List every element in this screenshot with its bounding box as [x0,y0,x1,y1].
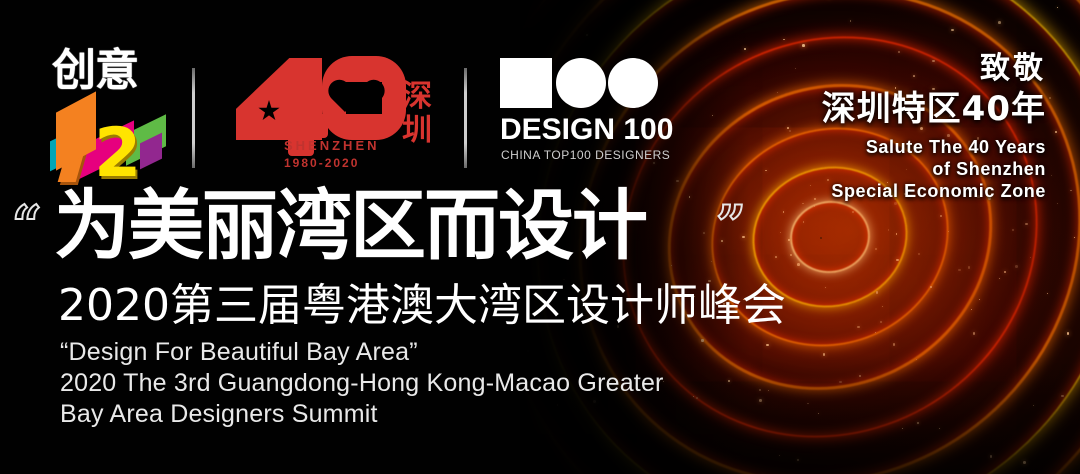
shenzhen-years: 1980-2020 [284,156,359,170]
shenzhen-cn-label: 深圳 [402,80,438,148]
en-line-2: 2020 The 3rd Guangdong-Hong Kong-Macao G… [60,368,780,399]
en-line-3: Bay Area Designers Summit [60,399,780,430]
heart-icon [346,82,382,114]
circle-shape-icon-1 [556,58,606,108]
shenzhen-label: SHENZHEN [284,138,380,153]
headline-row: “ 为美丽湾区而设计 ” [0,186,800,272]
quote-open-icon: “ [12,200,42,252]
chuangyi-12-logo: 2 创意 [44,48,174,170]
page-title: 为美丽湾区而设计 [54,186,646,266]
poster-banner: 2 创意 SHENZHEN 1980-2020 深圳 DESIGN 1 [0,0,1080,474]
en-line-1: “Design For Beautiful Bay Area” [60,337,780,368]
salute-en-line-3: Special Economic Zone [726,180,1046,202]
design-100-title: DESIGN 100 [500,114,673,146]
circle-shape-icon-2 [608,58,658,108]
square-shape-icon [500,58,552,108]
design-100-logo: DESIGN 100 CHINA TOP100 DESIGNERS [500,58,680,166]
chuangyi-12-color-blocks: 2 [44,88,174,170]
salute-en-line-1: Salute The 40 Years [726,136,1046,158]
chuangyi-logo-text: 创意 [52,48,138,94]
salute-cn-small: 致敬 [726,52,1046,86]
quote-close-icon: ” [716,200,746,252]
four-crossbar [236,114,328,138]
logo-divider-2 [464,68,467,168]
event-subtitle-cn: 2020第三届粤港澳大湾区设计师峰会 [58,282,786,330]
event-subtitle-en: “Design For Beautiful Bay Area” 2020 The… [60,337,780,430]
headline-block: “ 为美丽湾区而设计 ” [0,186,800,272]
numeral-two: 2 [94,120,141,188]
numeral-zero [322,56,406,140]
shenzhen-40-logo: SHENZHEN 1980-2020 深圳 [236,52,436,170]
salute-cn-big: 深圳特区40年 [726,88,1046,130]
salute-en-line-2: of Shenzhen [726,158,1046,180]
logo-divider-1 [192,68,195,168]
logo-bar: 2 创意 SHENZHEN 1980-2020 深圳 DESIGN 1 [0,0,700,186]
design-100-subtitle: CHINA TOP100 DESIGNERS [501,148,670,162]
salute-block: 致敬 深圳特区40年 Salute The 40 Years of Shenzh… [726,52,1046,202]
